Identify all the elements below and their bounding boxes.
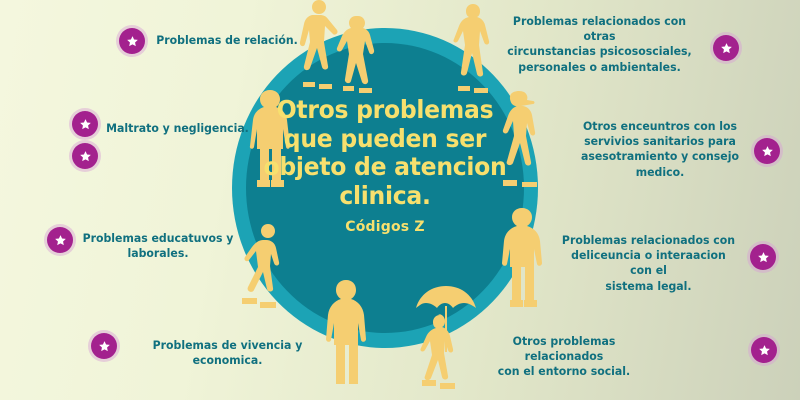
badge-problemas-psicosociales[interactable] (713, 35, 739, 61)
badge-problemas-vivencia[interactable] (91, 333, 117, 359)
label-problemas-de-relacion: Problemas de relación. (156, 33, 299, 48)
label-line: Maltrato y negligencia. (104, 121, 251, 136)
badge-maltrato-1[interactable] (72, 111, 98, 137)
star-icon (79, 118, 92, 131)
walking-woman-silhouette (335, 14, 379, 94)
label-line: servivios sanitarios para (570, 134, 751, 149)
label-maltrato-y-negligencia: Maltrato y negligencia. (104, 121, 251, 136)
badge-problemas-de-relacion[interactable] (119, 28, 145, 54)
star-icon (79, 150, 92, 163)
walking-man-with-hat-silhouette (498, 88, 544, 188)
woman-with-umbrella-silhouette (408, 284, 482, 396)
star-icon (126, 35, 139, 48)
label-line: Problemas de vivencia y economica. (125, 338, 329, 368)
label-line: personales o ambientales. (497, 60, 701, 75)
label-line: circunstancias psicososciales, (497, 44, 701, 59)
badge-entorno-social[interactable] (751, 337, 777, 363)
label-problemas-delincuencia-sistema-legal: Problemas relacionados con deliceuncia o… (561, 233, 737, 294)
label-line: Problemas relacionados con (561, 233, 737, 248)
label-line: sistema legal. (561, 279, 737, 294)
label-line: Otros enceuntros con los (570, 119, 751, 134)
badge-problemas-educativos[interactable] (47, 227, 73, 253)
walking-man-silhouette (238, 222, 290, 314)
badge-servicios-sanitarios[interactable] (754, 138, 780, 164)
label-problemas-educativos-y-laborales: Problemas educatuvos y laborales. (82, 231, 234, 261)
label-line: Problemas educatuvos y (82, 231, 234, 246)
label-line: Otros problemas relacionados (479, 334, 650, 364)
walking-woman-silhouette (452, 2, 496, 94)
label-problemas-de-vivencia-y-economica: Problemas de vivencia y economica. (125, 338, 329, 368)
badge-maltrato-2[interactable] (72, 143, 98, 169)
star-icon (98, 340, 111, 353)
standing-woman-silhouette (322, 278, 370, 390)
label-problemas-psicosociales: Problemas relacionados con otras circuns… (497, 14, 701, 75)
standing-woman-silhouette (246, 88, 294, 190)
label-line: laborales. (82, 246, 234, 261)
infographic-poster: Otros problemas que pueden ser objeto de… (0, 0, 800, 400)
label-otros-encuentros-servicios-sanitarios: Otros enceuntros con los servivios sanit… (570, 119, 751, 180)
star-icon (757, 251, 770, 264)
star-icon (54, 234, 67, 247)
star-icon (720, 42, 733, 55)
label-otros-problemas-entorno-social: Otros problemas relacionados con el ento… (479, 334, 650, 380)
standing-person-silhouette (498, 206, 546, 310)
star-icon (758, 344, 771, 357)
label-line: Problemas de relación. (156, 33, 299, 48)
badge-sistema-legal[interactable] (750, 244, 776, 270)
label-line: Problemas relacionados con otras (497, 14, 701, 44)
star-icon (761, 145, 774, 158)
label-line: deliceuncia o interaacion con el (561, 248, 737, 278)
label-line: asesotramiento y consejo medico. (570, 149, 751, 179)
label-line: con el entorno social. (479, 364, 650, 379)
